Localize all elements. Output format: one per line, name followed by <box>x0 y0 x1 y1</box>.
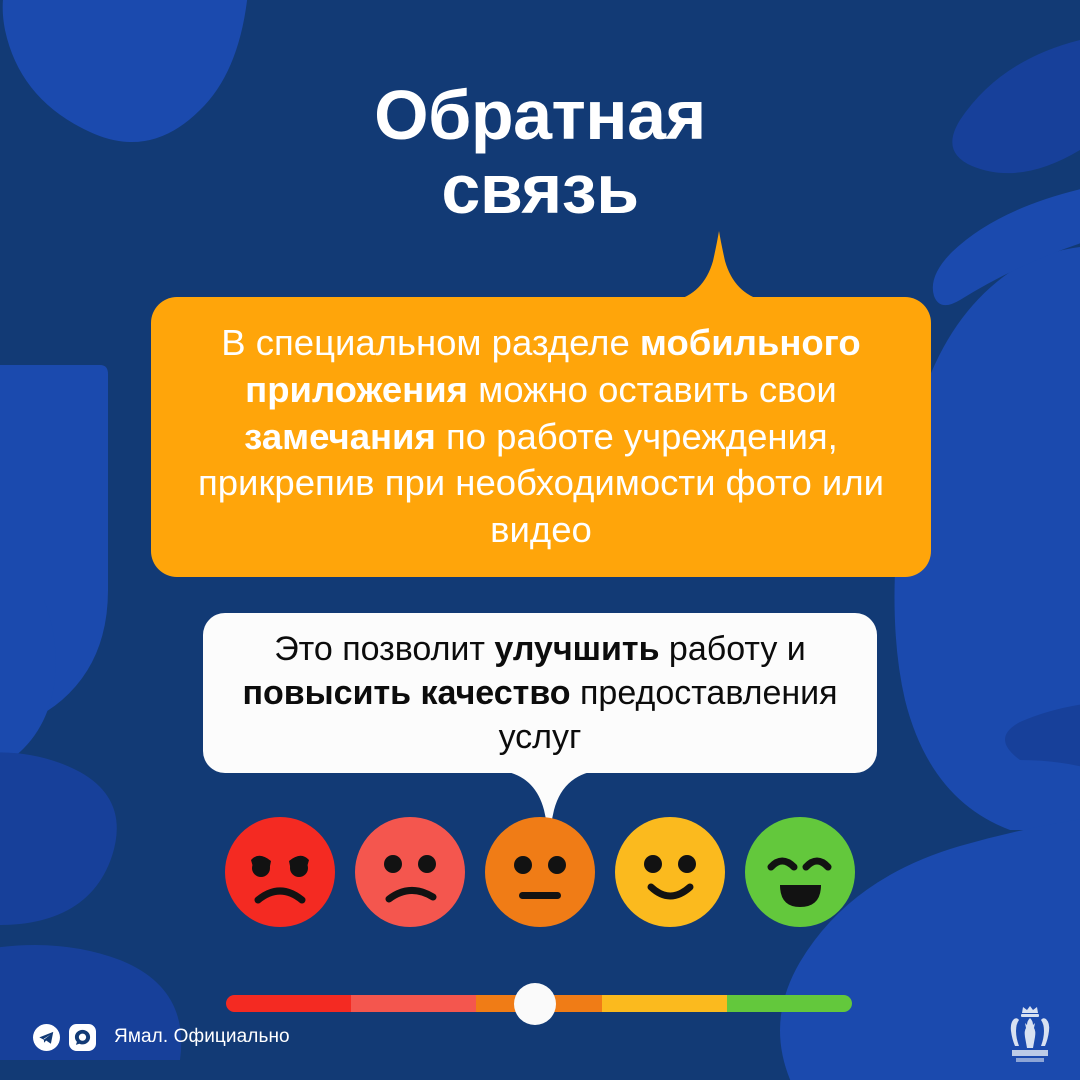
rating-faces <box>225 817 855 927</box>
page-title-line-2: связь <box>0 152 1080 226</box>
max-messenger-icon[interactable] <box>69 1024 96 1051</box>
rating-face-neutral[interactable] <box>485 817 595 927</box>
info-bubble-white-text: Это позволит улучшить работу и повысить … <box>203 627 877 760</box>
rating-face-angry[interactable] <box>225 817 335 927</box>
angry-face-icon <box>225 817 335 927</box>
orange-bubble-tail <box>655 231 783 301</box>
happy-face-icon <box>615 817 725 927</box>
rating-face-sad[interactable] <box>355 817 465 927</box>
rating-face-happy[interactable] <box>615 817 725 927</box>
white-seg-3: повысить качество <box>242 674 570 712</box>
info-bubble-orange: В специальном разделе мобильного приложе… <box>151 297 931 577</box>
slider-segment-1 <box>351 995 476 1012</box>
white-seg-1: улучшить <box>494 630 659 668</box>
yamal-coat-of-arms <box>1002 1004 1058 1066</box>
footer: Ямал. Официально <box>33 1016 290 1058</box>
slider-segment-0 <box>226 995 351 1012</box>
white-seg-0: Это позволит <box>274 630 494 668</box>
slider-segment-4 <box>727 995 852 1012</box>
footer-brand-label: Ямал. Официально <box>114 1026 290 1048</box>
neutral-face-icon <box>485 817 595 927</box>
telegram-icon[interactable] <box>33 1024 60 1051</box>
orange-seg-3: замечания <box>244 416 436 457</box>
joyful-face-icon <box>745 817 855 927</box>
rating-slider-knob[interactable] <box>514 983 556 1025</box>
orange-seg-2: можно оставить свои <box>468 369 837 410</box>
white-seg-2: работу и <box>659 630 805 668</box>
orange-seg-0: В специальном разделе <box>221 322 640 363</box>
page-title-line-1: Обратная <box>374 76 706 154</box>
sad-face-icon <box>355 817 465 927</box>
rating-face-joyful[interactable] <box>745 817 855 927</box>
info-bubble-white: Это позволит улучшить работу и повысить … <box>203 613 877 773</box>
info-bubble-orange-text: В специальном разделе мобильного приложе… <box>151 320 931 554</box>
slider-segment-3 <box>602 995 727 1012</box>
page-title: Обратная связь <box>0 78 1080 226</box>
